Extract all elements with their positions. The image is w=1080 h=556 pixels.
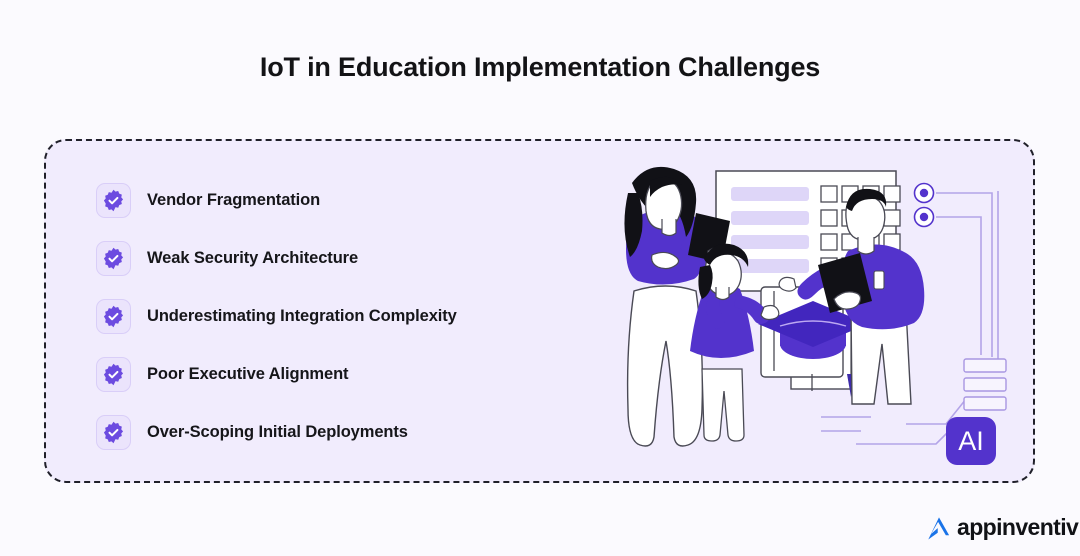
challenges-card: Vendor Fragmentation Weak Security Archi… <box>44 139 1035 483</box>
check-badge-icon <box>96 241 131 276</box>
page-title: IoT in Education Implementation Challeng… <box>0 52 1080 83</box>
list-item: Over-Scoping Initial Deployments <box>96 403 616 461</box>
list-item: Vendor Fragmentation <box>96 171 616 229</box>
list-item-label: Underestimating Integration Complexity <box>147 307 457 326</box>
logo-text: appinventiv <box>957 516 1078 539</box>
check-badge-icon <box>96 357 131 392</box>
list-item-label: Poor Executive Alignment <box>147 365 348 384</box>
challenge-list: Vendor Fragmentation Weak Security Archi… <box>96 171 616 461</box>
list-item: Underestimating Integration Complexity <box>96 287 616 345</box>
list-item: Weak Security Architecture <box>96 229 616 287</box>
ai-badge-label: AI <box>958 426 984 456</box>
check-badge-icon <box>96 183 131 218</box>
list-item-label: Vendor Fragmentation <box>147 191 320 210</box>
list-item-label: Weak Security Architecture <box>147 249 358 268</box>
check-badge-icon <box>96 299 131 334</box>
check-badge-icon <box>96 415 131 450</box>
appinventiv-logo: appinventiv <box>925 514 1078 541</box>
appinventiv-arrow-logo-icon <box>925 514 952 541</box>
list-item-label: Over-Scoping Initial Deployments <box>147 423 408 442</box>
iot-education-classroom-illustration: AI <box>606 159 1026 469</box>
list-item: Poor Executive Alignment <box>96 345 616 403</box>
